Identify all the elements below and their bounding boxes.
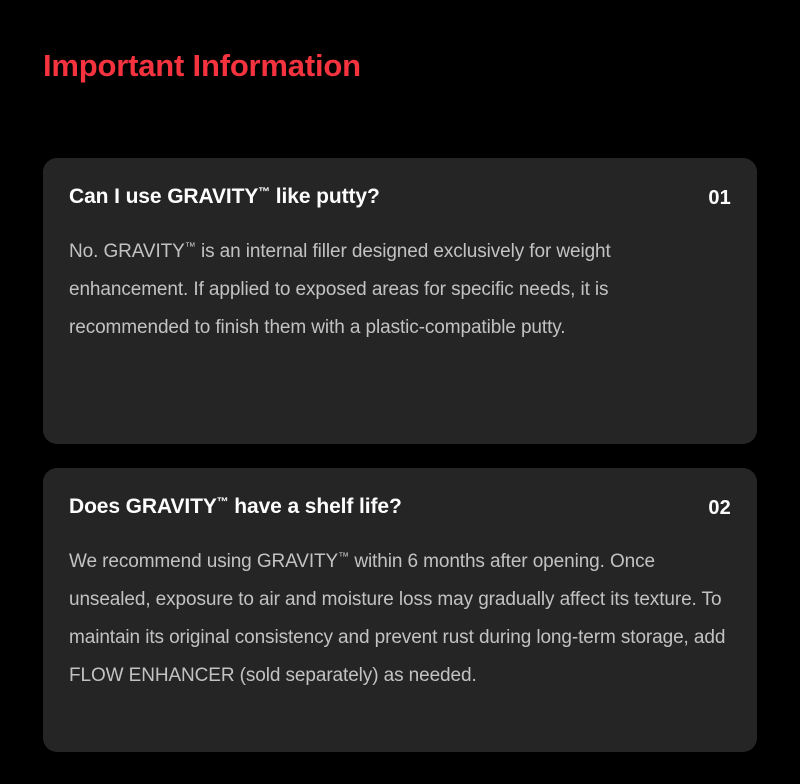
faq-question: Can I use GRAVITY™ like putty? xyxy=(69,184,688,210)
page-title: Important Information xyxy=(43,47,361,84)
faq-item-header: Does GRAVITY™ have a shelf life? 02 xyxy=(69,494,731,521)
trademark-icon: ™ xyxy=(185,241,196,253)
faq-answer: We recommend using GRAVITY™ within 6 mon… xyxy=(69,538,731,695)
faq-question-text-tail: like putty? xyxy=(270,185,380,208)
faq-question-text-tail: have a shelf life? xyxy=(229,495,402,518)
faq-number-badge: 01 xyxy=(708,184,731,211)
faq-question-text-lead: Does GRAVITY xyxy=(69,495,217,518)
faq-item-header: Can I use GRAVITY™ like putty? 01 xyxy=(69,184,731,211)
faq-item-01[interactable]: Can I use GRAVITY™ like putty? 01 No. GR… xyxy=(43,158,757,444)
faq-answer: No. GRAVITY™ is an internal filler desig… xyxy=(69,228,731,347)
faq-page: Important Information Can I use GRAVITY™… xyxy=(0,0,800,784)
trademark-icon: ™ xyxy=(258,186,270,199)
faq-item-02[interactable]: Does GRAVITY™ have a shelf life? 02 We r… xyxy=(43,468,757,752)
faq-answer-text-lead: No. GRAVITY xyxy=(69,241,185,262)
faq-number-badge: 02 xyxy=(708,494,731,521)
trademark-icon: ™ xyxy=(217,496,229,509)
faq-question: Does GRAVITY™ have a shelf life? xyxy=(69,494,688,520)
trademark-icon: ™ xyxy=(338,551,349,563)
faq-list: Can I use GRAVITY™ like putty? 01 No. GR… xyxy=(43,158,757,776)
faq-question-text-lead: Can I use GRAVITY xyxy=(69,185,258,208)
faq-answer-text-lead: We recommend using GRAVITY xyxy=(69,551,338,572)
